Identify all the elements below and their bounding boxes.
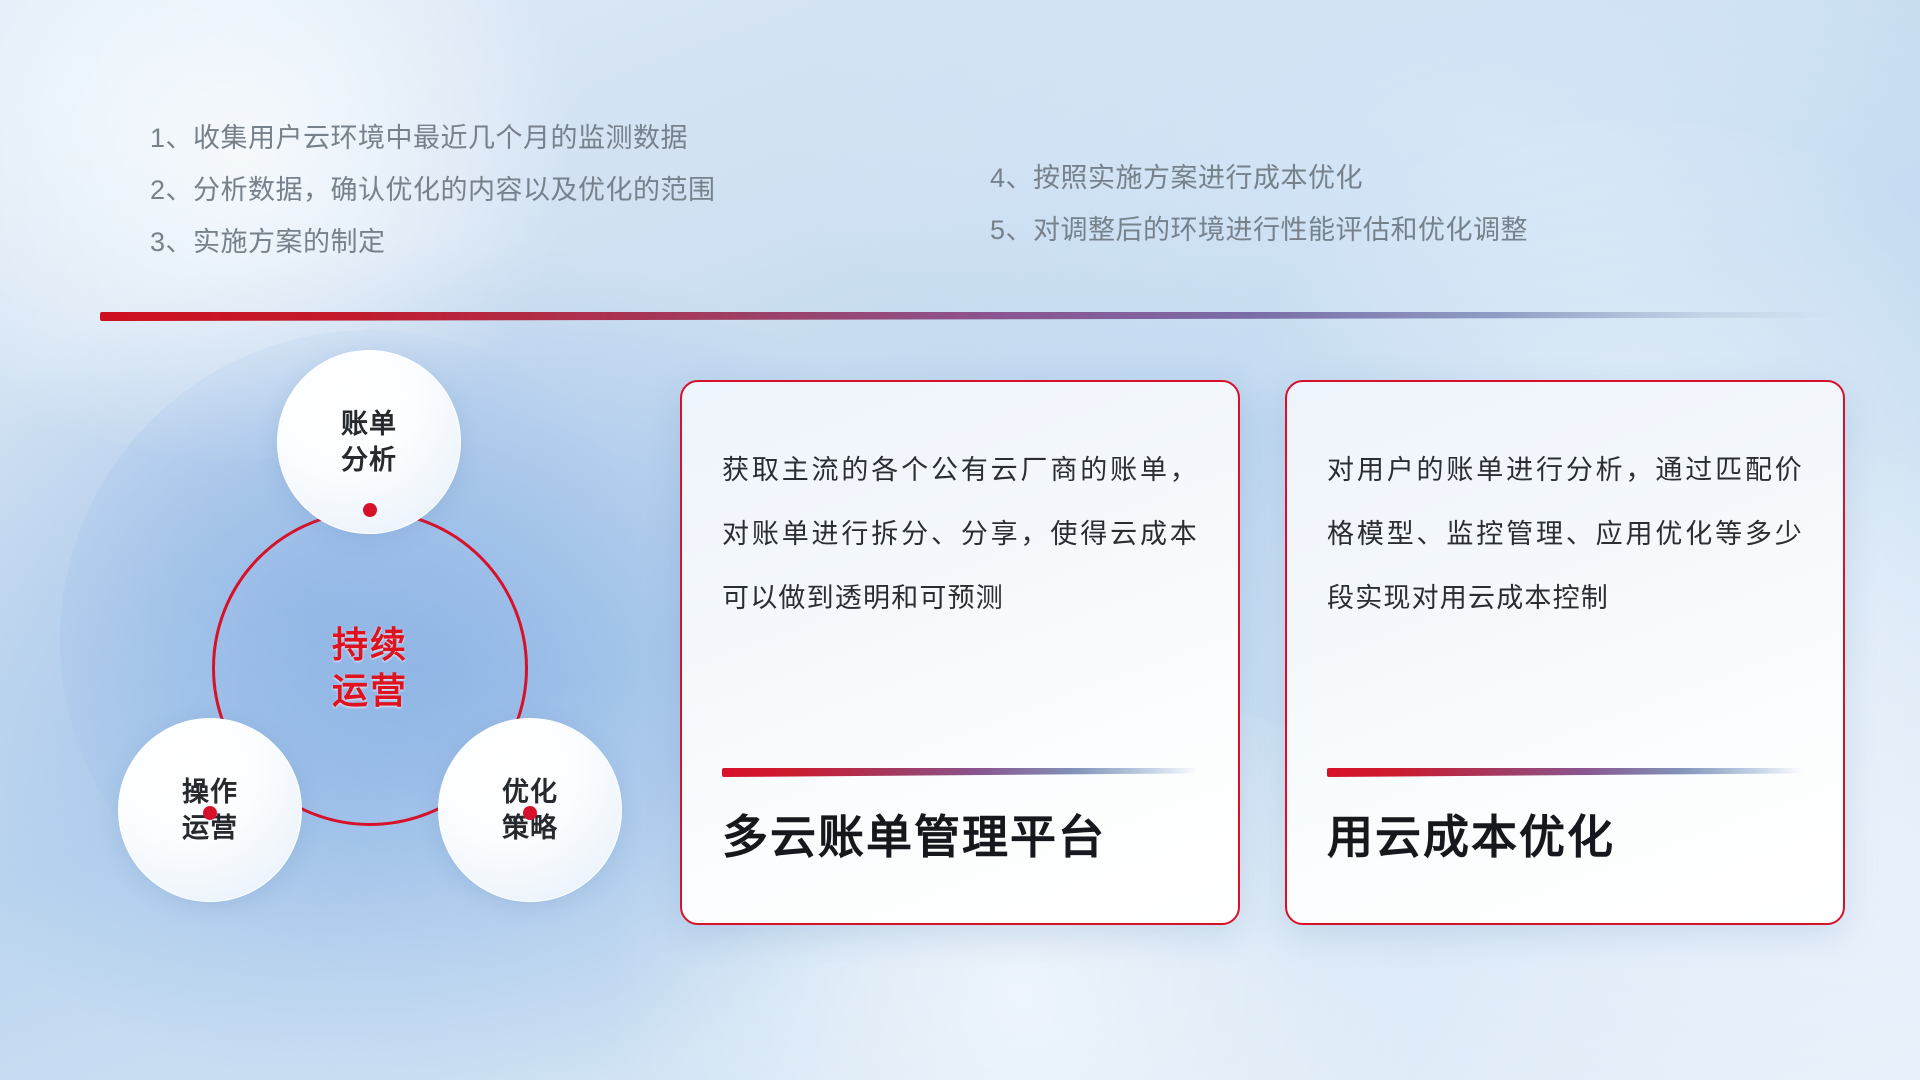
feature-card-cost-optimization-body: 对用户的账单进行分析，通过匹配价格模型、监控管理、应用优化等多少段实现对用云成本… [1327,438,1803,630]
steps-left-column: 1、收集用户云环境中最近几个月的监测数据 2、分析数据，确认优化的内容以及优化的… [150,112,870,268]
venn-node-dot-top [363,503,377,517]
venn-bubble-bill-analysis-line1: 账单 [341,406,397,442]
venn-node-dot-left [203,806,217,820]
section-divider [100,312,1842,321]
feature-card-cost-optimization-title: 用云成本优化 [1327,807,1803,889]
venn-node-dot-right [523,806,537,820]
venn-diagram: 持续 运营 账单 分析 操作 运营 优化 策略 [90,350,650,950]
step-item-2: 2、分析数据，确认优化的内容以及优化的范围 [150,164,870,216]
step-item-3: 3、实施方案的制定 [150,216,870,268]
feature-card-multicloud-billing-title: 多云账单管理平台 [722,807,1198,889]
step-item-4: 4、按照实施方案进行成本优化 [990,152,1750,204]
steps-right-column: 4、按照实施方案进行成本优化 5、对调整后的环境进行性能评估和优化调整 [990,152,1750,256]
feature-card-multicloud-billing-body: 获取主流的各个公有云厂商的账单，对账单进行拆分、分享，使得云成本可以做到透明和可… [722,438,1198,630]
venn-bubble-optimization-strategy-line1: 优化 [502,774,558,810]
step-item-1: 1、收集用户云环境中最近几个月的监测数据 [150,112,870,164]
feature-card-multicloud-billing-rule [722,768,1198,777]
feature-card-cost-optimization[interactable]: 对用户的账单进行分析，通过匹配价格模型、监控管理、应用优化等多少段实现对用云成本… [1285,380,1845,925]
feature-card-multicloud-billing[interactable]: 获取主流的各个公有云厂商的账单，对账单进行拆分、分享，使得云成本可以做到透明和可… [680,380,1240,925]
venn-bubble-operations-line1: 操作 [182,774,238,810]
venn-bubble-bill-analysis-line2: 分析 [341,442,397,478]
step-item-5: 5、对调整后的环境进行性能评估和优化调整 [990,204,1750,256]
slide-canvas: 1、收集用户云环境中最近几个月的监测数据 2、分析数据，确认优化的内容以及优化的… [0,0,1920,1080]
feature-card-cost-optimization-rule [1327,768,1803,777]
